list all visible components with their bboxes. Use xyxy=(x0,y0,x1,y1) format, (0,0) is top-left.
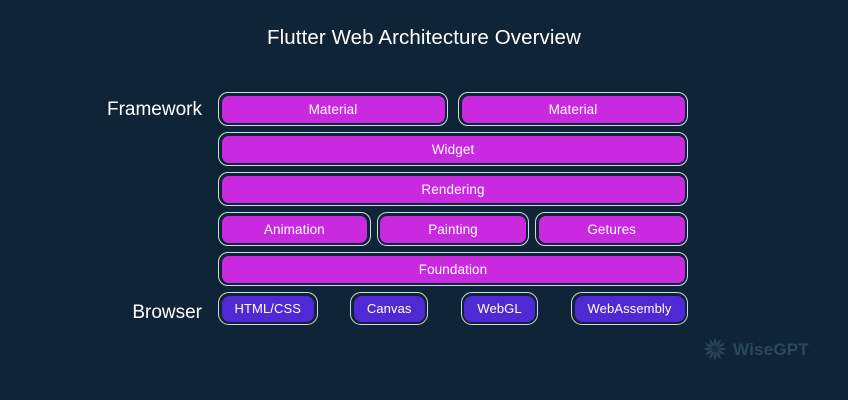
stack-row-widget: Widget xyxy=(218,132,688,166)
stack-cell-label: Material xyxy=(222,96,445,123)
stack-row-foundation: Foundation xyxy=(218,252,688,286)
browser-cell-html-css[interactable]: HTML/CSS xyxy=(218,292,318,325)
stack-cell-label: Widget xyxy=(222,136,685,163)
stack-cell-material-right[interactable]: Material xyxy=(458,92,688,126)
stack-cell-label: Painting xyxy=(380,216,526,243)
stack-cell-label: Material xyxy=(462,96,685,123)
browser-cell-canvas[interactable]: Canvas xyxy=(350,292,428,325)
stack-cell-painting[interactable]: Painting xyxy=(377,212,530,246)
layer-label-browser: Browser xyxy=(0,303,202,322)
browser-cell-label: HTML/CSS xyxy=(222,296,315,322)
stack-cell-rendering[interactable]: Rendering xyxy=(218,172,688,206)
stack-cell-foundation[interactable]: Foundation xyxy=(218,252,688,286)
layer-label-framework: Framework xyxy=(0,100,202,119)
architecture-stack: Material Material Widget Rendering Anima… xyxy=(218,92,688,325)
stack-row-rendering: Rendering xyxy=(218,172,688,206)
browser-cell-label: WebAssembly xyxy=(575,296,685,322)
wisegpt-watermark-text: WiseGPT xyxy=(733,341,809,358)
stack-cell-material-left[interactable]: Material xyxy=(218,92,448,126)
stack-row-subsystems: Animation Painting Getures xyxy=(218,212,688,246)
diagram-canvas: Flutter Web Architecture Overview Framew… xyxy=(0,0,848,400)
browser-cell-label: Canvas xyxy=(354,296,425,322)
stack-cell-animation[interactable]: Animation xyxy=(218,212,371,246)
stack-row-browser-targets: HTML/CSS Canvas WebGL WebAssembly xyxy=(218,292,688,325)
page-title: Flutter Web Architecture Overview xyxy=(0,26,848,50)
stack-row-material: Material Material xyxy=(218,92,688,126)
browser-cell-webgl[interactable]: WebGL xyxy=(461,292,538,325)
stack-cell-label: Getures xyxy=(539,216,685,243)
wisegpt-watermark: WiseGPT xyxy=(702,336,809,362)
stack-cell-widget[interactable]: Widget xyxy=(218,132,688,166)
wisegpt-burst-logo-icon xyxy=(702,336,728,362)
browser-cell-label: WebGL xyxy=(464,296,534,322)
browser-cell-webassembly[interactable]: WebAssembly xyxy=(571,292,688,325)
stack-cell-label: Rendering xyxy=(222,176,685,203)
stack-cell-label: Animation xyxy=(222,216,368,243)
stack-cell-getures[interactable]: Getures xyxy=(535,212,688,246)
stack-cell-label: Foundation xyxy=(222,256,685,283)
